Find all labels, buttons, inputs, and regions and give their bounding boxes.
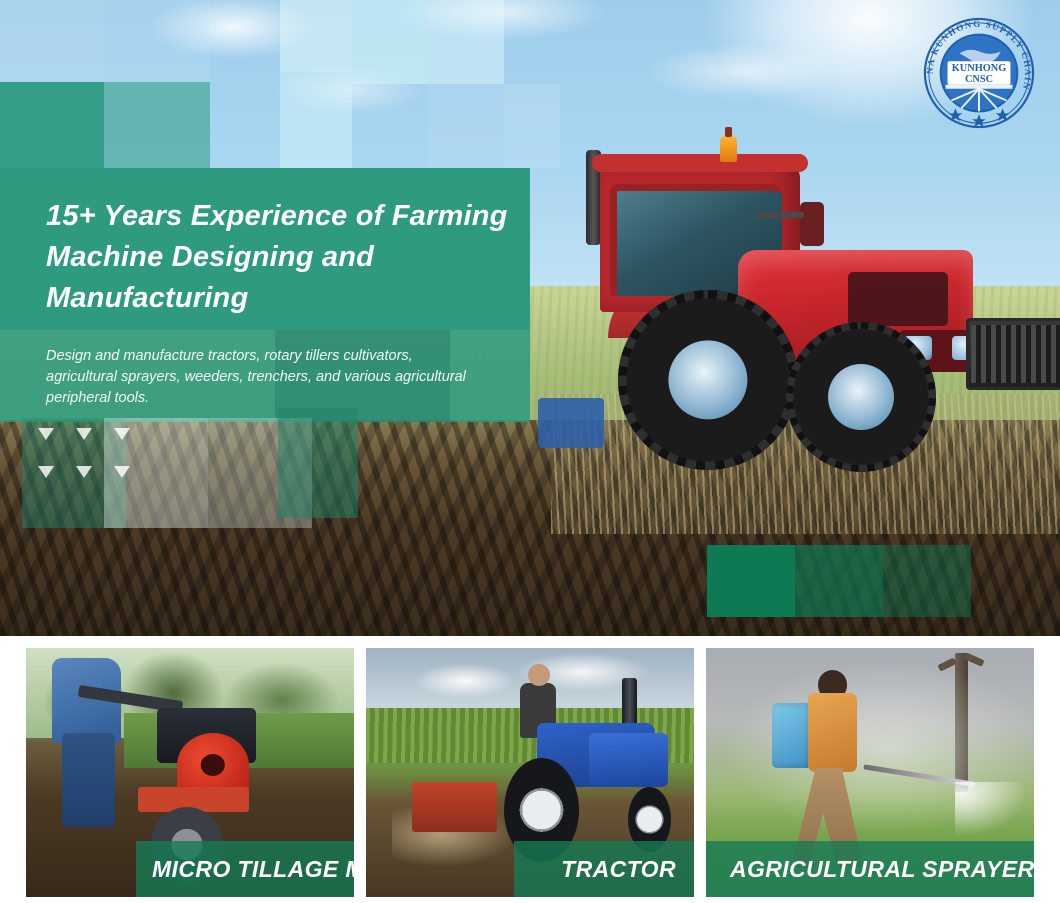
product-card-agricultural-sprayer[interactable]: AGRICULTURAL SPRAYER [706, 648, 1034, 897]
mosaic-square [428, 84, 504, 168]
card-label-text: TRACTOR [514, 856, 694, 883]
card-label-bar: AGRICULTURAL SPRAYER [706, 841, 1034, 897]
chevron-down-icon [114, 428, 130, 440]
card-label-text: AGRICULTURAL SPRAYER [706, 856, 1034, 883]
card-label-bar: TRACTOR [514, 841, 694, 897]
page-title: 15+ Years Experience of Farming Machine … [46, 196, 516, 319]
card-label-bar: MICRO TILLAGE MACHINE [136, 841, 354, 897]
mosaic-square [104, 0, 210, 82]
card2-tractor-hood [589, 733, 668, 788]
green-accent-square [795, 545, 883, 617]
chevron-down-icon [76, 428, 92, 440]
green-accent-square [883, 545, 971, 617]
mosaic-square [428, 0, 504, 84]
chevron-down-icon [38, 466, 54, 478]
triangle-backdrop-square [278, 408, 358, 518]
logo-center-line1: KUNHONG [952, 63, 1006, 74]
hero-banner: 15+ Years Experience of Farming Machine … [0, 0, 1060, 636]
card2-rotary-tiller [412, 782, 497, 832]
logo-center-line2: CNSC [965, 74, 993, 85]
panel-accent-top-left [0, 82, 104, 168]
chevron-down-icon [114, 466, 130, 478]
card-label-text: MICRO TILLAGE MACHINE [136, 856, 354, 883]
product-card-row: MICRO TILLAGE MACHINE TRACTOR [0, 648, 1060, 903]
card3-operator-body [808, 693, 857, 773]
panel-accent-top-right [104, 82, 210, 168]
chevron-down-icon [76, 466, 92, 478]
product-card-tractor[interactable]: TRACTOR [366, 648, 694, 897]
mosaic-square [352, 0, 428, 84]
card3-spray-mist [955, 782, 1027, 837]
mosaic-square [0, 0, 104, 82]
triangle-decoration-grid [38, 428, 158, 498]
card1-operator-legs [62, 733, 114, 828]
chevron-down-icon [38, 428, 54, 440]
mosaic-square [280, 0, 352, 72]
green-accent-square [707, 545, 795, 617]
product-card-micro-tillage-machine[interactable]: MICRO TILLAGE MACHINE [26, 648, 354, 897]
mosaic-square [504, 84, 560, 168]
company-seal-icon[interactable]: KUNHONG CNSC CHINA KUNHONG SUPPLY CHAIN [920, 14, 1038, 132]
mosaic-square [280, 72, 352, 168]
hero-description: Design and manufacture tractors, rotary … [46, 346, 476, 409]
